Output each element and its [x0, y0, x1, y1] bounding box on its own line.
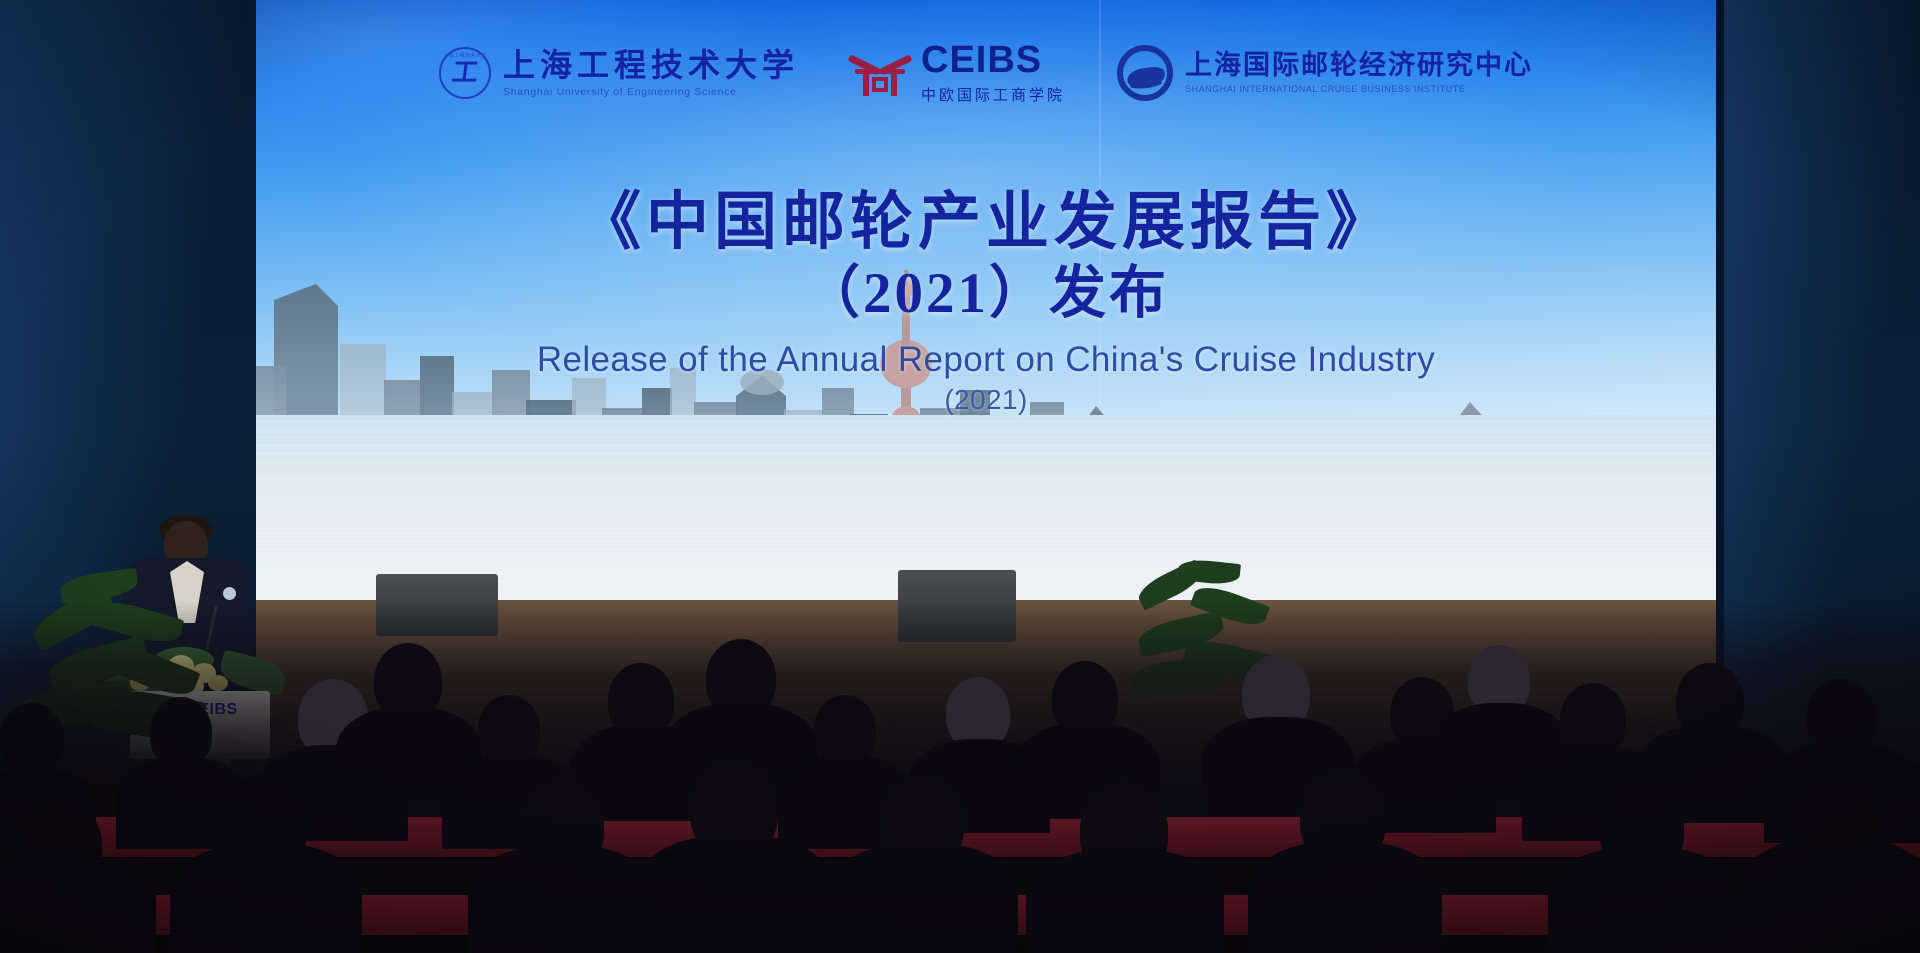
- audience-shoulders: [1026, 849, 1224, 953]
- audience-shoulders: [1548, 847, 1738, 953]
- gate-center-square: [872, 77, 888, 92]
- speaker-lapel-badge: [223, 587, 236, 600]
- slide-title-cn-line2: （2021）发布: [256, 260, 1716, 328]
- audience-silhouettes: [0, 601, 1920, 953]
- audience-shoulders: [828, 843, 1018, 953]
- university-seal-icon: 上海工程技术大学 工: [439, 47, 491, 99]
- audience-shoulders: [0, 857, 156, 953]
- audience-head: [0, 703, 64, 775]
- logo-sicbi-name-en: SHANGHAI INTERNATIONAL CRUISE BUSINESS I…: [1185, 85, 1533, 94]
- slide-title-en-line2: (2021): [256, 384, 1716, 416]
- logo-sicbi-name-cn: 上海国际邮轮经济研究中心: [1185, 52, 1533, 79]
- slide-title-cn-line1: 《中国邮轮产业发展报告》: [256, 188, 1716, 256]
- audience-shoulders: [468, 845, 656, 953]
- seal-glyph: 工: [450, 60, 480, 86]
- seal-circle: 上海工程技术大学 工: [439, 47, 491, 99]
- slide-title-block: 《中国邮轮产业发展报告》 （2021）发布 Release of the Ann…: [256, 188, 1716, 416]
- slide-logo-bar: 上海工程技术大学 工 上海工程技术大学 Shanghai University …: [256, 34, 1716, 112]
- logo-ceibs: CEIBS 中欧国际工商学院: [851, 41, 1065, 105]
- logo-sues-name-en: Shanghai University of Engineering Scien…: [503, 87, 799, 98]
- ceibs-gate-icon: [851, 48, 909, 98]
- logo-sicbi: 上海国际邮轮经济研究中心 SHANGHAI INTERNATIONAL CRUI…: [1117, 45, 1533, 101]
- logo-ceibs-name-cn: 中欧国际工商学院: [921, 84, 1065, 105]
- logo-ceibs-name-en: CEIBS: [921, 41, 1065, 79]
- projection-screen: 上海工程技术大学 工 上海工程技术大学 Shanghai University …: [256, 0, 1716, 600]
- slide-title-en-line1: Release of the Annual Report on China's …: [256, 340, 1716, 380]
- conference-stage-scene: 上海工程技术大学 工 上海工程技术大学 Shanghai University …: [0, 0, 1920, 953]
- logo-sues-name-cn: 上海工程技术大学: [503, 49, 799, 81]
- audience-shoulders: [636, 835, 834, 953]
- logo-sues: 上海工程技术大学 工 上海工程技术大学 Shanghai University …: [439, 47, 799, 99]
- globe-wave-icon: [1117, 45, 1173, 101]
- gate-pillar-left: [863, 72, 869, 96]
- audience-shoulders: [1248, 841, 1442, 953]
- plant-frond: [59, 568, 140, 605]
- audience-shoulders: [170, 843, 362, 953]
- audience-shoulders: [1738, 837, 1920, 953]
- gate-pillar-right: [891, 72, 897, 96]
